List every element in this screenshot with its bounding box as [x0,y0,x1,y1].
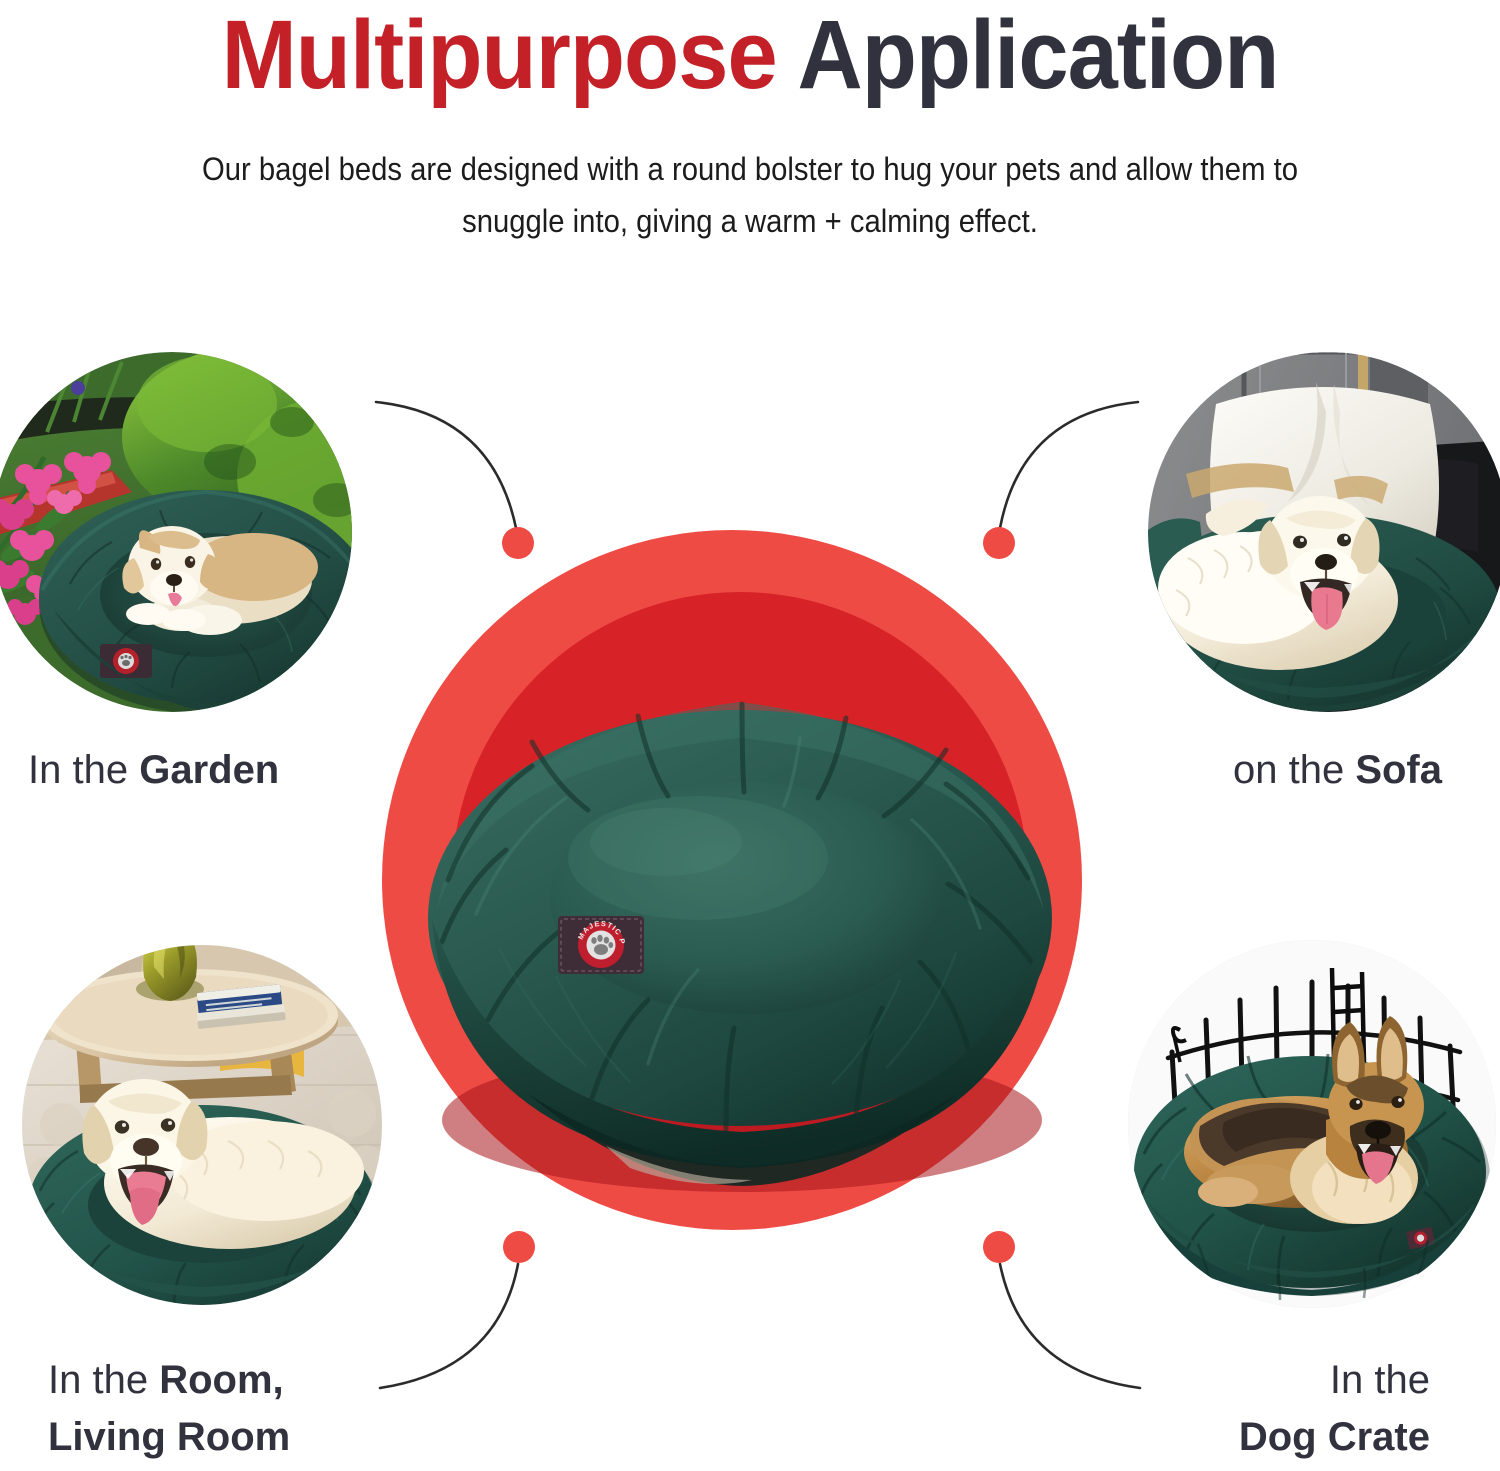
caption-sofa-bold: Sofa [1355,748,1442,792]
caption-room-line-2: Living Room [48,1409,290,1466]
page-subtitle: Our bagel beds are designed with a round… [75,143,1425,247]
caption-garden-bold: Garden [139,748,279,792]
caption-in-the-living-room: In the Room, Living Room [48,1352,290,1466]
thumbnail-in-the-living-room[interactable] [22,945,382,1305]
caption-on-the-sofa: on the Sofa [1233,742,1442,799]
page-title-dark-word: Application [777,0,1279,109]
caption-sofa-light: on the [1233,748,1355,792]
caption-room-light: In the [48,1358,159,1402]
caption-crate-line-1: In the [1239,1352,1430,1409]
page-subtitle-line-1: Our bagel beds are designed with a round… [75,143,1425,195]
caption-room-bold: Room, [159,1358,283,1402]
hero-bagel-bed-illustration: MAJESTIC PET [380,480,1100,1280]
dog-crate-scene-illustration [1128,940,1496,1308]
page-title-red-word: Multipurpose [222,0,777,109]
caption-garden-light: In the [28,748,139,792]
connector-line-bottom-left [380,1264,518,1388]
hero-product-stage: MAJESTIC PET [380,480,1100,1280]
caption-crate-line-2: Dog Crate [1239,1409,1430,1466]
page-title: Multipurpose Application [53,0,1448,103]
thumbnail-on-the-sofa[interactable] [1148,352,1500,712]
thumbnail-in-the-garden[interactable] [0,352,352,712]
brand-tag: MAJESTIC PET [555,909,644,974]
page-subtitle-line-2: snuggle into, giving a warm + calming ef… [75,195,1425,247]
living-room-scene-illustration [22,945,382,1305]
caption-room-line-1: In the Room, [48,1352,290,1409]
caption-in-the-dog-crate: In the Dog Crate [1239,1352,1430,1466]
caption-in-the-garden: In the Garden [28,742,279,799]
sofa-scene-illustration [1148,352,1500,712]
header-block: Multipurpose Application Our bagel beds … [0,0,1500,247]
infographic-page: Multipurpose Application Our bagel beds … [0,0,1500,1471]
thumbnail-in-the-dog-crate[interactable] [1128,940,1496,1308]
connector-line-bottom-right [1000,1264,1140,1388]
garden-scene-illustration [0,352,352,712]
